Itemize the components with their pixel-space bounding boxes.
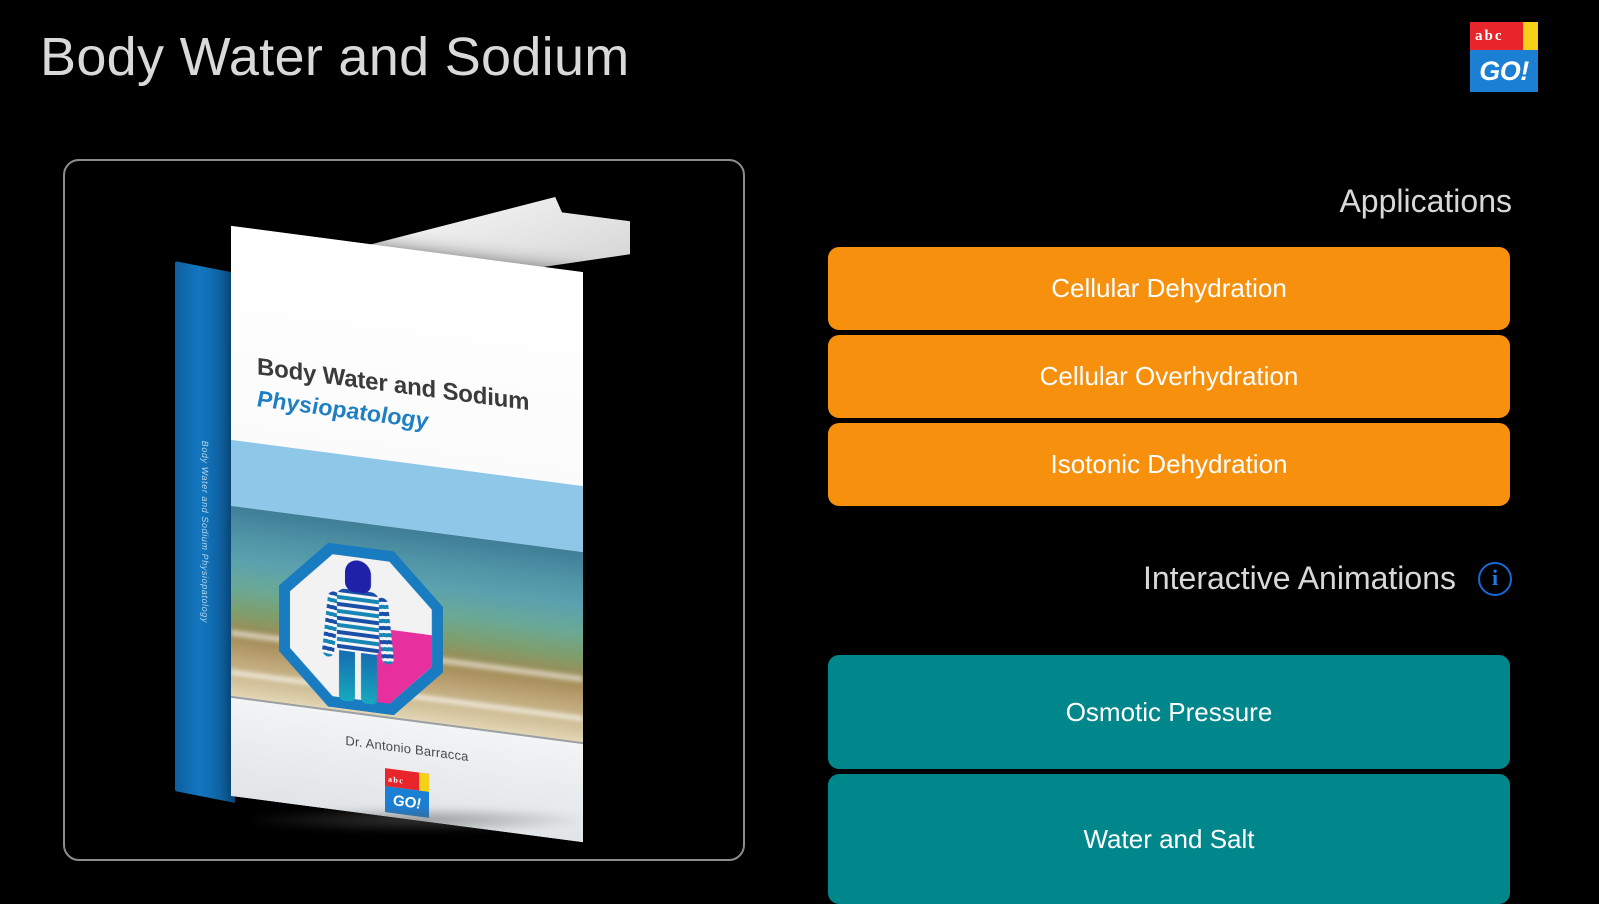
cover-logo-yellow-square	[419, 773, 429, 792]
book-3d: Body Water and Sodium Physiopatology Bod…	[175, 189, 635, 839]
book-spine-text: Body Water and Sodium Physiopatology	[200, 440, 210, 624]
button-cellular-dehydration[interactable]: Cellular Dehydration	[828, 247, 1510, 330]
book-drop-shadow	[245, 807, 585, 833]
cover-logo-abc-text: abc	[385, 774, 404, 786]
page-title: Body Water and Sodium	[40, 26, 630, 88]
book-spine: Body Water and Sodium Physiopatology	[175, 261, 235, 803]
right-column: Applications Cellular Dehydration Cellul…	[828, 0, 1540, 900]
human-figure-icon	[323, 556, 393, 707]
button-water-and-salt[interactable]: Water and Salt	[828, 774, 1510, 904]
button-cellular-overhydration[interactable]: Cellular Overhydration	[828, 335, 1510, 418]
info-icon[interactable]: i	[1478, 562, 1512, 596]
figure-right-leg	[361, 649, 377, 705]
book-stage: Body Water and Sodium Physiopatology Bod…	[65, 161, 743, 859]
book-front-cover: Body Water and Sodium Physiopatology	[231, 226, 583, 842]
info-icon-glyph: i	[1492, 567, 1498, 589]
animations-heading-row: Interactive Animations i	[1143, 560, 1512, 597]
applications-heading: Applications	[1339, 183, 1512, 220]
button-osmotic-pressure[interactable]: Osmotic Pressure	[828, 655, 1510, 769]
interactive-animations-heading: Interactive Animations	[1143, 560, 1456, 597]
figure-left-leg	[339, 646, 355, 702]
book-cover-panel[interactable]: Body Water and Sodium Physiopatology Bod…	[63, 159, 745, 861]
button-isotonic-dehydration[interactable]: Isotonic Dehydration	[828, 423, 1510, 506]
figure-torso	[337, 588, 379, 656]
figure-head	[345, 559, 371, 594]
